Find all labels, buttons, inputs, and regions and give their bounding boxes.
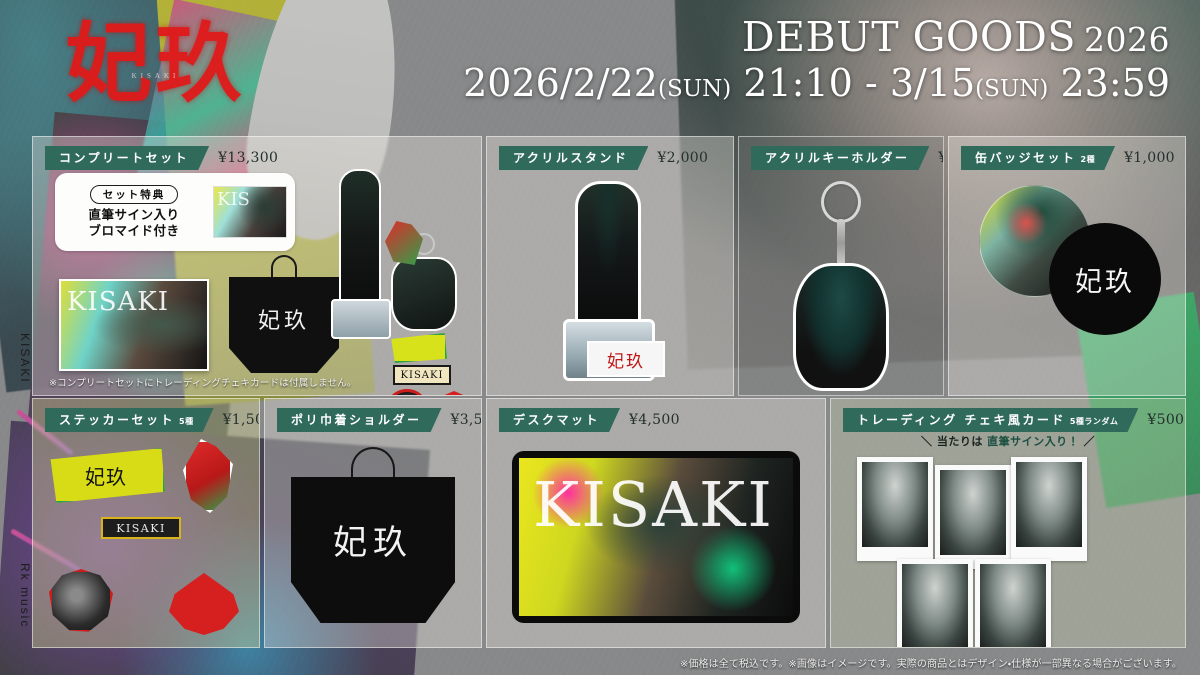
keyholder-item (391, 257, 457, 331)
product-card-can-badge-set[interactable]: 缶バッジセット2種 ¥1,000 妃玖 (948, 136, 1186, 396)
cheki-card-photo (862, 462, 928, 547)
cheki-note-suffix: ／ (1079, 435, 1095, 448)
product-price: ¥13,300 (218, 150, 278, 166)
acrylic-stand-item (321, 161, 399, 346)
date-end-day: (SUN) (975, 76, 1048, 102)
chibi-character-charm (793, 263, 889, 391)
product-card-poly-shoulder[interactable]: ポリ巾着ショルダー ¥3,500 妃玖 (264, 398, 482, 648)
product-name-tag: トレーディング チェキ風カード5種ランダム (843, 408, 1138, 432)
pouch-shoulder-strap (351, 447, 395, 481)
set-bonus-description: 直筆サイン入り ブロマイド付き (63, 207, 205, 238)
side-label-artist: KISAKI (18, 333, 32, 384)
cheki-note-prefix: ＼ 当たりは (921, 435, 987, 448)
page-title: DEBUT GOODS2026 (463, 16, 1170, 59)
product-card-acrylic-keyholder[interactable]: アクリルキーホルダー ¥800 (738, 136, 944, 396)
acrylic-stand-figure (339, 169, 381, 309)
product-card-acrylic-stand[interactable]: アクリルスタンド ¥2,000 妃玖 (486, 136, 734, 396)
product-grid-bottom: ステッカーセット5種 ¥1,500 妃玖 KISAKI ポリ巾着ショルダー ¥3… (32, 398, 1178, 648)
footer-disclaimer: ※価格は全て税込です。※画像はイメージです。実際の商品とはデザイン・仕様が一部異… (680, 655, 1182, 670)
time-end: 23:59 (1060, 61, 1170, 105)
set-bonus-line-1: 直筆サイン入り (63, 207, 205, 223)
product-name: コンプリートセット (59, 151, 189, 165)
sticker-band-name (393, 365, 451, 385)
product-price: ¥2,000 (657, 150, 708, 166)
cheki-card-photo (1016, 462, 1082, 547)
product-header: 缶バッジセット2種 ¥1,000 (961, 146, 1175, 170)
sticker-plant-art (183, 439, 233, 513)
product-name-tag: アクリルスタンド (499, 146, 648, 170)
pouch-logo: 妃玖 (333, 515, 413, 564)
cheki-card-grid (855, 455, 1161, 633)
product-variant-count: 5種 (179, 417, 194, 426)
set-bonus-badge: セット特典 (90, 185, 179, 204)
poster-item (59, 279, 209, 371)
product-header: コンプリートセット ¥13,300 (45, 146, 278, 170)
product-card-complete-set[interactable]: コンプリートセット ¥13,300 セット特典 直筆サイン入り ブロマイド付き (32, 136, 482, 396)
product-card-trading-cheki-card[interactable]: トレーディング チェキ風カード5種ランダム ¥500 ＼ 当たりは 直筆サイン入… (830, 398, 1186, 648)
set-bonus-line-2: ブロマイド付き (63, 223, 205, 239)
cheki-card (857, 457, 933, 561)
product-header: デスクマット ¥4,500 (499, 408, 680, 432)
title-year: 2026 (1084, 20, 1170, 59)
sale-period: 2026/2/22(SUN) 21:10 - 3/15(SUN) 23:59 (463, 61, 1170, 106)
cheki-card (935, 465, 1011, 569)
character-figure (575, 181, 641, 331)
product-price: ¥3,500 (451, 412, 482, 428)
cheki-note-highlight: 直筆サイン入り！ (987, 435, 1079, 448)
product-variant-count: 2種 (1081, 155, 1096, 164)
product-name-tag: 缶バッジセット2種 (961, 146, 1115, 170)
product-price: ¥1,500 (223, 412, 260, 428)
product-header: アクリルキーホルダー ¥800 (751, 146, 944, 170)
product-name-tag: コンプリートセット (45, 146, 209, 170)
date-start-day: (SUN) (658, 76, 731, 102)
pouch-body: 妃玖 (291, 477, 455, 623)
sticker-snake (385, 389, 429, 396)
product-price: ¥800 (938, 150, 944, 166)
can-badge-logo: 妃玖 (1049, 223, 1161, 335)
sticker-logo-kanji: 妃玖 (47, 447, 165, 503)
product-header: トレーディング チェキ風カード5種ランダム ¥500 (843, 408, 1184, 432)
cheki-card-photo (980, 564, 1046, 648)
sticker-snake-art (49, 569, 113, 633)
keyring-icon (821, 181, 861, 223)
product-header: ポリ巾着ショルダー ¥3,500 (277, 408, 482, 432)
cheki-card (975, 559, 1051, 648)
product-name: デスクマット (513, 413, 600, 427)
product-card-sticker-set[interactable]: ステッカーセット5種 ¥1,500 妃玖 KISAKI (32, 398, 260, 648)
brand-logo-romaji: KISAKI (58, 72, 253, 80)
poster-root: 妃玖 KISAKI DEBUT GOODS2026 2026/2/22(SUN)… (0, 0, 1200, 675)
keychain-link (837, 219, 845, 267)
brand-logo-kanji: 妃玖 (58, 8, 253, 128)
product-header: ステッカーセット5種 ¥1,500 (45, 408, 260, 432)
cheki-bonus-note: ＼ 当たりは 直筆サイン入り！ ／ (831, 433, 1185, 449)
date-start: 2026/2/22 (463, 61, 658, 105)
date-end: 3/15 (890, 61, 975, 105)
product-name: トレーディング チェキ風カード (857, 413, 1066, 427)
header: DEBUT GOODS2026 2026/2/22(SUN) 21:10 - 3… (463, 16, 1170, 105)
desk-mat-item (512, 451, 800, 623)
set-bonus-text: セット特典 直筆サイン入り ブロマイド付き (63, 185, 205, 238)
stand-logo-plate: 妃玖 (587, 341, 665, 377)
product-name: アクリルキーホルダー (765, 151, 909, 165)
complete-set-disclaimer: ※コンプリートセットにトレーディングチェキカードは付属しません。 (49, 375, 357, 389)
product-grid-top: コンプリートセット ¥13,300 セット特典 直筆サイン入り ブロマイド付き (32, 136, 1178, 396)
time-start: 21:10 (743, 61, 853, 105)
product-name: 缶バッジセット (975, 151, 1077, 165)
side-label-record-label: Rk music (18, 563, 32, 628)
product-name-tag: ステッカーセット5種 (45, 408, 214, 432)
desk-mat-artwork (519, 458, 793, 616)
cheki-card-photo (940, 470, 1006, 555)
set-bonus-box: セット特典 直筆サイン入り ブロマイド付き (55, 173, 295, 251)
date-separator: - (865, 61, 878, 105)
title-text: DEBUT GOODS (742, 13, 1076, 61)
acrylic-stand-base (331, 299, 391, 339)
product-card-desk-mat[interactable]: デスクマット ¥4,500 (486, 398, 826, 648)
product-price: ¥500 (1147, 412, 1184, 428)
product-price: ¥4,500 (629, 412, 680, 428)
product-header: アクリルスタンド ¥2,000 (499, 146, 708, 170)
product-price: ¥1,000 (1124, 150, 1175, 166)
cheki-card-photo (902, 564, 968, 648)
sticker-flower-art (169, 573, 239, 635)
sticker-flower (433, 391, 475, 396)
product-name: アクリルスタンド (513, 151, 628, 165)
cheki-card (897, 559, 973, 648)
product-name: ステッカーセット (59, 413, 175, 427)
product-name-tag: アクリルキーホルダー (751, 146, 929, 170)
product-name-tag: デスクマット (499, 408, 620, 432)
cheki-card (1011, 457, 1087, 561)
product-name: ポリ巾着ショルダー (291, 413, 422, 427)
product-name-tag: ポリ巾着ショルダー (277, 408, 442, 432)
sticker-wordmark: KISAKI (101, 517, 181, 539)
bromide-photo-thumbnail (213, 186, 287, 238)
product-variant-count: 5種ランダム (1070, 417, 1119, 426)
acrylic-stand-visual: 妃玖 (535, 181, 685, 381)
